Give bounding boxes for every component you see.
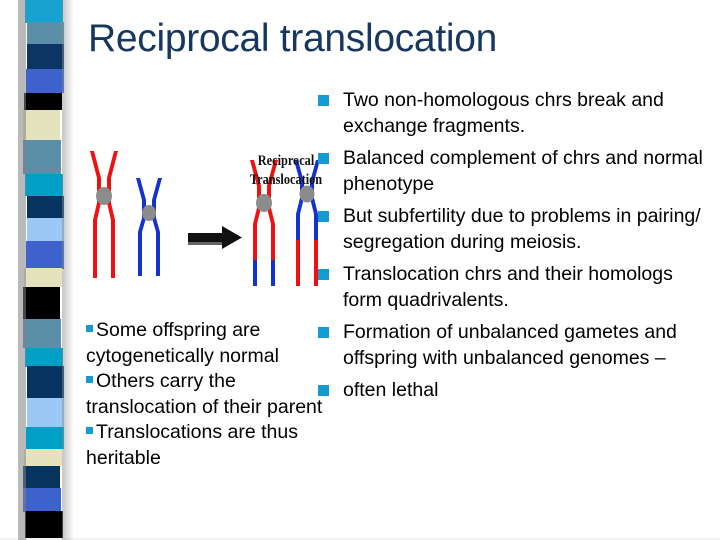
color-band [27, 22, 64, 45]
right-bullet-text: Formation of unbalanced gametes and offs… [343, 320, 716, 371]
color-band [24, 268, 62, 287]
strip-left-shadow [18, 0, 26, 540]
right-bullet-list: Two non-homologous chrs break and exchan… [318, 88, 716, 411]
color-band [23, 140, 60, 174]
parent-chromosome-red [90, 151, 118, 278]
right-arrow [188, 226, 242, 249]
color-band [23, 466, 60, 489]
list-item: Two non-homologous chrs break and exchan… [318, 88, 716, 139]
right-bullet-text: Balanced complement of chrs and normal p… [343, 146, 716, 197]
list-item: Others carry the translocation of their … [86, 369, 326, 420]
color-band [25, 0, 63, 23]
list-item: Some offspring are cytogenetically norma… [86, 318, 326, 369]
color-band [24, 93, 62, 110]
page-title: Reciprocal translocation [88, 16, 688, 62]
strip-right-shadow [62, 0, 74, 540]
list-item: Translocation chrs and their homologs fo… [318, 262, 716, 313]
reciprocal-translocation-diagram: Reciprocal Translocation [84, 148, 332, 300]
color-band [27, 366, 64, 399]
list-item: often lethal [318, 378, 716, 404]
right-bullet-text: Translocation chrs and their homologs fo… [343, 262, 716, 313]
color-band [27, 196, 64, 219]
left-bullet-text: Others carry the translocation of their … [86, 370, 322, 418]
parent-chromosome-blue [136, 178, 162, 276]
left-bullet-text: Translocations are thus heritable [86, 421, 298, 469]
square-bullet-icon [86, 376, 93, 383]
diagram-label: Reciprocal Translocation [245, 152, 327, 190]
color-band [27, 218, 64, 242]
color-band [26, 69, 64, 93]
color-band [25, 174, 63, 197]
diagram-label-line1: Reciprocal [245, 152, 327, 171]
list-item: Balanced complement of chrs and normal p… [318, 146, 716, 197]
square-bullet-icon [318, 327, 329, 338]
color-band [23, 110, 60, 141]
list-item: Formation of unbalanced gametes and offs… [318, 320, 716, 371]
color-band [25, 511, 63, 540]
color-band [24, 449, 62, 466]
color-band [25, 348, 63, 367]
right-bullet-text: But subfertility due to problems in pair… [343, 204, 716, 255]
color-band [27, 44, 64, 70]
left-bullet-list: Some offspring are cytogenetically norma… [86, 318, 326, 471]
color-band [27, 398, 64, 427]
color-band [23, 287, 60, 320]
color-band [26, 427, 64, 450]
square-bullet-icon [318, 385, 329, 396]
left-bullet-text: Some offspring are cytogenetically norma… [86, 319, 279, 367]
decorative-color-band-strip [0, 0, 78, 540]
square-bullet-icon [318, 211, 329, 222]
square-bullet-icon [318, 153, 329, 164]
color-band [23, 488, 61, 512]
color-band [26, 241, 64, 269]
diagram-label-line2: Translocation [245, 171, 327, 190]
square-bullet-icon [86, 325, 93, 332]
square-bullet-icon [318, 95, 329, 106]
square-bullet-icon [318, 269, 329, 280]
list-item: Translocations are thus heritable [86, 420, 326, 471]
square-bullet-icon [86, 427, 93, 434]
slide-canvas: Reciprocal translocation [0, 0, 720, 540]
color-band [23, 319, 60, 348]
right-bullet-text: Two non-homologous chrs break and exchan… [343, 88, 716, 139]
right-bullet-text: often lethal [343, 378, 716, 404]
list-item: But subfertility due to problems in pair… [318, 204, 716, 255]
